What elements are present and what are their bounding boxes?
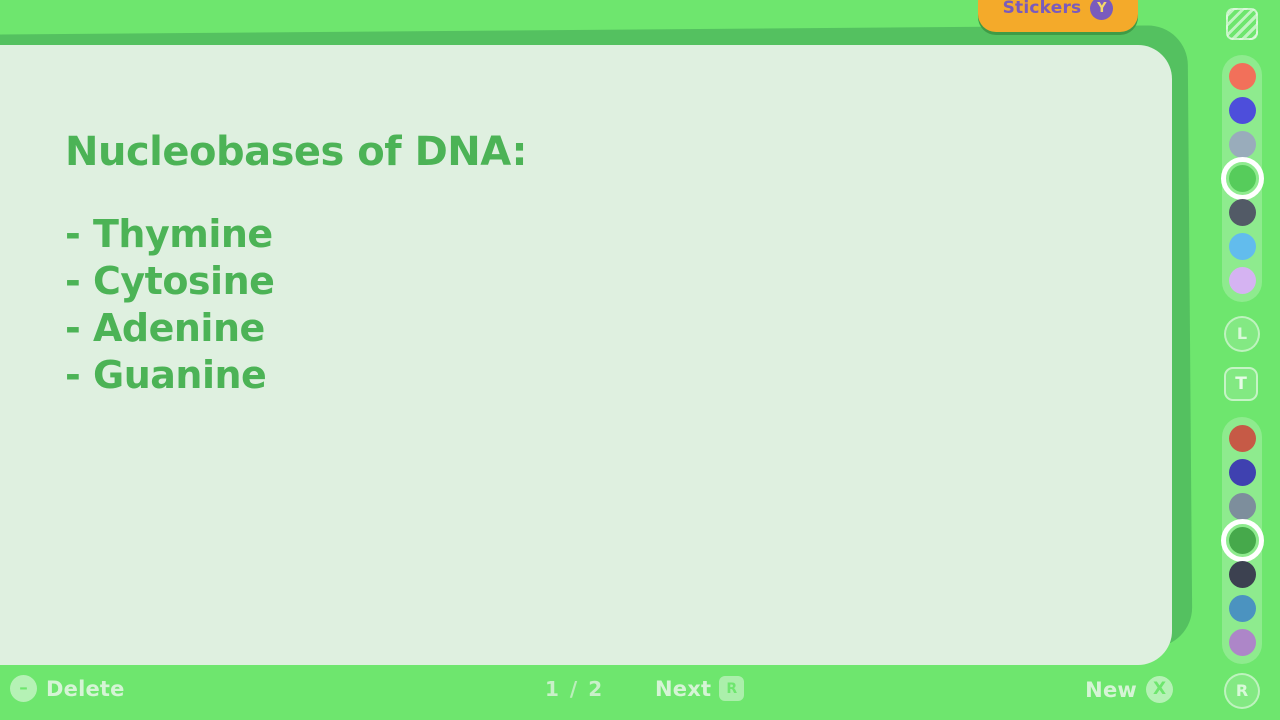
page-current: 1 xyxy=(545,677,559,701)
nucleobase-list: - Thymine - Cytosine - Adenine - Guanine xyxy=(15,211,1172,399)
reset-button-key: R xyxy=(1236,683,1248,699)
button-badge-y: Y xyxy=(1090,0,1113,20)
page-total: 2 xyxy=(588,677,602,701)
muted-color-palette xyxy=(1222,417,1262,664)
slide-card[interactable]: Nucleobases of DNA: - Thymine - Cytosine… xyxy=(0,45,1172,665)
slide-title: Nucleobases of DNA: xyxy=(15,129,1172,175)
list-item: - Guanine xyxy=(65,352,1172,399)
swatch-indigo[interactable] xyxy=(1225,97,1259,124)
stripe-pattern-glyph xyxy=(1226,8,1258,40)
delete-button[interactable]: – Delete xyxy=(10,675,125,702)
reset-button[interactable]: R xyxy=(1224,673,1260,709)
bright-color-palette xyxy=(1222,55,1262,302)
page-separator: / xyxy=(570,677,577,701)
key-badge-r: R xyxy=(719,676,744,701)
new-button[interactable]: New X xyxy=(1085,676,1173,703)
stickers-tab-label: Stickers xyxy=(1003,0,1082,18)
swatch-sky-blue[interactable] xyxy=(1225,233,1259,260)
next-label: Next xyxy=(655,677,711,701)
minus-circle-icon: – xyxy=(10,675,37,702)
text-tool-button[interactable]: T xyxy=(1224,367,1258,401)
text-tool-key: T xyxy=(1235,376,1247,393)
new-label: New xyxy=(1085,678,1137,702)
app-root: Stickers Y Nucleobases of DNA: - Thymine… xyxy=(0,0,1280,720)
swatch-dark-slate[interactable] xyxy=(1225,199,1259,226)
swatch-charcoal[interactable] xyxy=(1225,561,1259,588)
swatch-dark-indigo[interactable] xyxy=(1225,459,1259,486)
line-tool-key: L xyxy=(1237,326,1247,342)
slide-body: Nucleobases of DNA: - Thymine - Cytosine… xyxy=(0,45,1172,399)
x-circle-icon: X xyxy=(1146,676,1173,703)
swatch-slate-gray[interactable] xyxy=(1225,131,1259,158)
list-item: - Thymine xyxy=(65,211,1172,258)
list-item: - Adenine xyxy=(65,305,1172,352)
stripe-pattern-icon[interactable] xyxy=(1224,6,1260,42)
swatch-dark-green[interactable] xyxy=(1225,527,1259,554)
swatch-green[interactable] xyxy=(1225,165,1259,192)
swatch-dark-slate-gray[interactable] xyxy=(1225,493,1259,520)
list-item: - Cytosine xyxy=(65,258,1172,305)
delete-label: Delete xyxy=(46,677,125,701)
swatch-lavender[interactable] xyxy=(1225,267,1259,294)
swatch-dark-coral[interactable] xyxy=(1225,425,1259,452)
next-button[interactable]: Next R xyxy=(655,676,744,701)
swatch-coral[interactable] xyxy=(1225,63,1259,90)
swatch-dark-lavender[interactable] xyxy=(1225,629,1259,656)
bottom-toolbar: – Delete 1 / 2 Next R New X xyxy=(0,665,1205,720)
stickers-tab[interactable]: Stickers Y xyxy=(978,0,1138,32)
right-toolbar: L T R xyxy=(1205,0,1280,720)
swatch-dark-blue[interactable] xyxy=(1225,595,1259,622)
line-tool-button[interactable]: L xyxy=(1224,316,1260,352)
page-indicator: 1 / 2 xyxy=(545,677,602,701)
